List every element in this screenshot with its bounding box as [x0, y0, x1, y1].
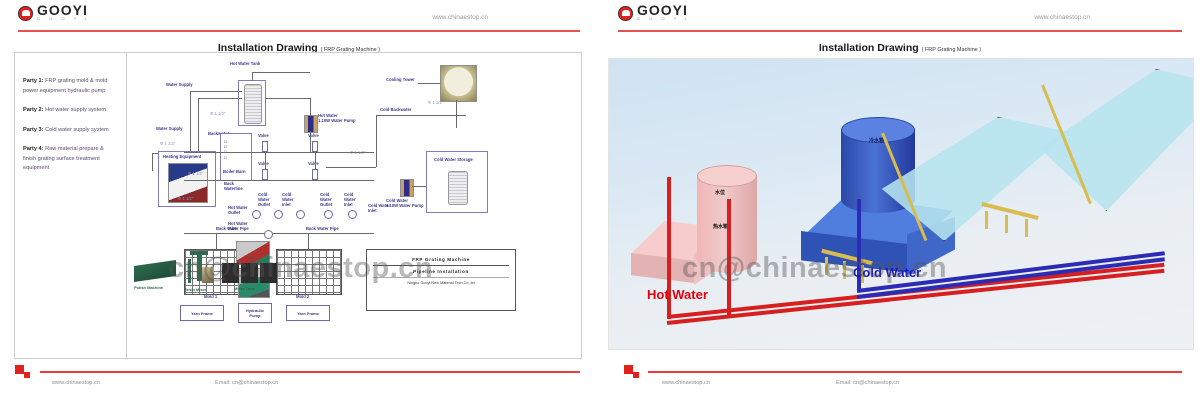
party-3-key: Party 3: [23, 127, 44, 133]
pipe-cold-backwater-v [376, 115, 377, 167]
footer-url-right: www.chinaestop.cn [662, 380, 710, 386]
boiler-barn-ticks: ◘ ◘ ◘ ◘ [224, 139, 227, 160]
drawing-title-block: FRP Grating Machine Pipeline Installatio… [366, 249, 516, 311]
hot-water-tank-top [697, 165, 757, 187]
page-footer-right: www.chinaestop.cn Email: cn@chinaestop.c… [600, 363, 1200, 395]
mixer-tank-3 [260, 263, 277, 283]
label-mold-2: Mold 2 [296, 294, 309, 299]
polish-machine: Polish Machine [132, 257, 180, 293]
label-hot-water-outlet: Hot Water Outlet [228, 205, 248, 215]
valve-3 [262, 169, 268, 180]
label-cooling-tower: Cooling Tower [386, 77, 415, 82]
yarn-frame-1-label: Yarn Frame [191, 311, 213, 316]
title-block-line-3: Ningbo Gooyi New Material Tech Co.,ltd [373, 278, 509, 288]
label-cold-backwater: Cold Backwater [380, 107, 411, 112]
page-title-main-right: Installation Drawing [819, 42, 919, 54]
yarn-frame-1: Yarn Frame [180, 305, 224, 321]
plate-2-drop-1 [985, 211, 988, 229]
pipe-back-water-1 [184, 233, 374, 234]
page-title-right: Installation Drawing ( FRP Grating Machi… [600, 42, 1200, 54]
gauge-cold-water-inlet-1 [296, 210, 305, 219]
gauge-cold-water-inlet-2 [348, 210, 357, 219]
pipe-mold1-feed [216, 233, 217, 249]
gauge-back-water [264, 230, 273, 239]
footer-divider [40, 371, 580, 373]
mixer-tank-1 [222, 263, 239, 283]
house-in-circle-icon [18, 6, 33, 21]
label-cold-water-outlet-1: Cold Water Outlet [258, 192, 270, 208]
party-3-text: Cold water supply system [44, 127, 109, 133]
tank-cold-label-cn: 冷水箱 [869, 137, 884, 144]
brand-subtitle: G O O Y I [37, 16, 90, 21]
pipe-cold-backwater-b [326, 167, 376, 168]
cooling-tower-photo [440, 65, 477, 102]
hot-trunk-pipe-a [727, 199, 731, 317]
footer-url: www.chinaestop.cn [52, 380, 100, 386]
label-pipe-spec-2: Φ 1 1/2" [160, 141, 175, 146]
footer-divider-right [648, 371, 1182, 373]
footer-square-large-right [624, 365, 633, 374]
yarn-frame-2-label: Yarn Frame [297, 311, 319, 316]
yarn-frame-2: Yarn Frame [286, 305, 330, 321]
brand-logo: GOOYI G O O Y I [18, 5, 90, 21]
pipe-header-lower [184, 180, 374, 181]
label-pipe-spec-5: Φ 1 1/2" [178, 196, 193, 201]
label-cold-water-inlet-1: Cold Water Inlet [282, 192, 293, 208]
cold-water-scene-label: Cold Water [853, 265, 921, 280]
label-water-supply-1: Water Supply [166, 82, 193, 87]
hydraulic-pump-label: Hydraulic Pump [246, 308, 264, 318]
pipe-supply-top [190, 91, 242, 92]
pipe-cold-backwater [376, 115, 466, 116]
hot-water-scene-label: Hot Water [647, 287, 708, 302]
resin-mixer-label: Resin Mixer [184, 287, 206, 292]
plate-2-manifold [981, 202, 1038, 220]
label-water-supply-2: Water Supply [156, 126, 183, 131]
gauge-cold-water-outlet-1 [274, 210, 283, 219]
footer-email: Email: cn@chinaestop.cn [215, 380, 278, 386]
mixer-tank-2 [241, 263, 258, 283]
label-valve-2: Valve [308, 133, 319, 138]
valve-2 [312, 141, 318, 152]
left-page: GOOYI G O O Y I www.chinaestop.cn Instal… [0, 0, 598, 405]
footer-square-large [15, 365, 24, 374]
party-item-4: Party 4: Raw material prepare & finish g… [23, 145, 118, 174]
label-boiler-barn: Boiler Barn [223, 169, 246, 174]
cold-water-storage-vessel [448, 171, 468, 205]
pipe-header-upper [184, 152, 374, 153]
polish-machine-body [134, 260, 176, 282]
mold-2-grid [276, 249, 342, 295]
pipe-vert-b [315, 152, 316, 169]
header-divider [18, 30, 580, 32]
page-header-left: GOOYI G O O Y I www.chinaestop.cn [0, 0, 598, 36]
label-heating-equipment: Heating Equipment [163, 154, 201, 159]
label-pipe-spec-1: Φ 1 1/2" [210, 111, 225, 116]
screenshot-root: GOOYI G O O Y I www.chinaestop.cn Instal… [0, 0, 1200, 405]
footer-email-right: Email: cn@chinaestop.cn [836, 380, 899, 386]
pipe-tank-to-pump [266, 98, 310, 99]
brand-name-right: GOOYI [637, 5, 690, 16]
pipe-mold2-feed [308, 233, 309, 249]
resin-mixer-leg [188, 259, 191, 283]
party-item-3: Party 3: Cold water supply system [23, 126, 118, 136]
label-cold-water-inlet-2: Cold Water Inlet [344, 192, 355, 208]
label-back-water-pipe-2: Back Water Pipe [306, 226, 339, 231]
plate-1-drop-2 [843, 261, 846, 279]
pipe-vert-a [265, 152, 266, 169]
pipe-supply-top-v [190, 91, 191, 153]
pipe-supply-low-v [152, 153, 153, 171]
header-url-right: www.chinaestop.cn [1034, 14, 1090, 21]
plate-2-drop-3 [1025, 219, 1028, 237]
hot-water-tank-vessel [244, 84, 262, 124]
party-2-text: Hot water supply system [44, 107, 107, 113]
hot-water-pump-photo [304, 115, 318, 133]
tank-level-label-cn: 水位 [715, 189, 725, 196]
label-back-water-pipe-1: Back Water Pipe [216, 226, 249, 231]
mixer-tank-label: Mixer Tank [234, 286, 255, 291]
gauge-cold-water-outlet-2 [324, 210, 333, 219]
house-in-circle-icon-right [618, 6, 633, 21]
label-hot-water-pump: Hot Water 1.10W Water Pump [318, 113, 356, 123]
page-header-right: GOOYI G O O Y I www.chinaestop.cn [600, 0, 1200, 36]
footer-square-small [24, 372, 30, 378]
footer-square-small-right [633, 372, 639, 378]
label-valve-3: Valve [258, 161, 269, 166]
gauge-hot-water-outlet [252, 210, 261, 219]
header-divider-right [618, 30, 1182, 32]
tank-hot-label-cn: 热水箱 [713, 223, 728, 230]
hydraulic-pump-box: Hydraulic Pump [238, 303, 272, 323]
polish-machine-label: Polish Machine [134, 285, 163, 290]
label-valve-1: Valve [258, 133, 269, 138]
leader-hot-water-tank-v [252, 72, 253, 81]
3d-scene: 水位 热水箱 冷水箱 [608, 58, 1194, 350]
title-block-line-1: FRP Grating Machine [373, 254, 509, 265]
resin-mixer: Resin Mixer [182, 249, 222, 297]
page-title-suffix-right: ( FRP Grating Machine ) [922, 47, 982, 53]
party-4-key: Party 4: [23, 146, 44, 152]
valve-1 [262, 141, 268, 152]
pipe-coldpump-storage [412, 186, 426, 187]
leader-cooling-tower [418, 83, 440, 84]
party-2-key: Party 2: [23, 107, 44, 113]
pipe-to-pump [310, 98, 311, 116]
brand-name: GOOYI [37, 5, 90, 16]
label-hot-water-tank: Hot Water Tank [230, 61, 260, 66]
page-footer-left: www.chinaestop.cn Email: cn@chinaestop.c… [0, 363, 598, 395]
header-url: www.chinaestop.cn [432, 14, 488, 21]
party-1-key: Party 1: [23, 78, 44, 84]
label-cold-water-storage: Cold Water Storage [434, 157, 473, 162]
drawing-sheet: Party 1: FRP grating mold & mold power e… [14, 52, 582, 359]
logo-ring-right [618, 6, 633, 21]
pipe-supply-mid-v [198, 98, 199, 156]
right-page: GOOYI G O O Y I www.chinaestop.cn Instal… [600, 0, 1200, 405]
label-cold-water-pump: Cold Water 1.10W Water Pump [386, 198, 424, 208]
label-cold-water-outlet-2: Cold Water Outlet [320, 192, 332, 208]
logo-ring [18, 6, 33, 21]
resin-mixer-drum [202, 267, 214, 283]
brand-logo-right: GOOYI G O O Y I [618, 5, 690, 21]
label-pipe-spec-6: Φ 1 1/2" [188, 171, 203, 176]
parties-list: Party 1: FRP grating mold & mold power e… [15, 53, 127, 358]
title-block-line-2: Pipeline Installation [373, 266, 509, 277]
pipe-cooling-tower-down [456, 100, 457, 128]
leader-hot-water-tank [252, 72, 310, 73]
label-pipe-spec-3: Φ 1 1/2" [428, 100, 443, 105]
brand-subtitle-right: G O O Y I [637, 16, 690, 21]
label-back-waterline: Back Waterline [224, 181, 243, 191]
label-valve-4: Valve [308, 161, 319, 166]
party-item-1: Party 1: FRP grating mold & mold power e… [23, 77, 118, 96]
schematic-canvas: Hot Water Tank Water Supply Water Supply… [128, 53, 581, 358]
party-item-2: Party 2: Hot water supply system [23, 106, 118, 116]
plate-1-drop-1 [825, 257, 828, 275]
valve-4 [312, 169, 318, 180]
plate-2-drop-2 [1005, 215, 1008, 233]
mixer-tank-group: Mixer Tank [222, 255, 282, 297]
cold-water-pump-photo [400, 179, 414, 197]
pipe-supply-mid [198, 98, 242, 99]
label-cold-water-inlet-3: Cold Water Inlet [368, 203, 390, 213]
